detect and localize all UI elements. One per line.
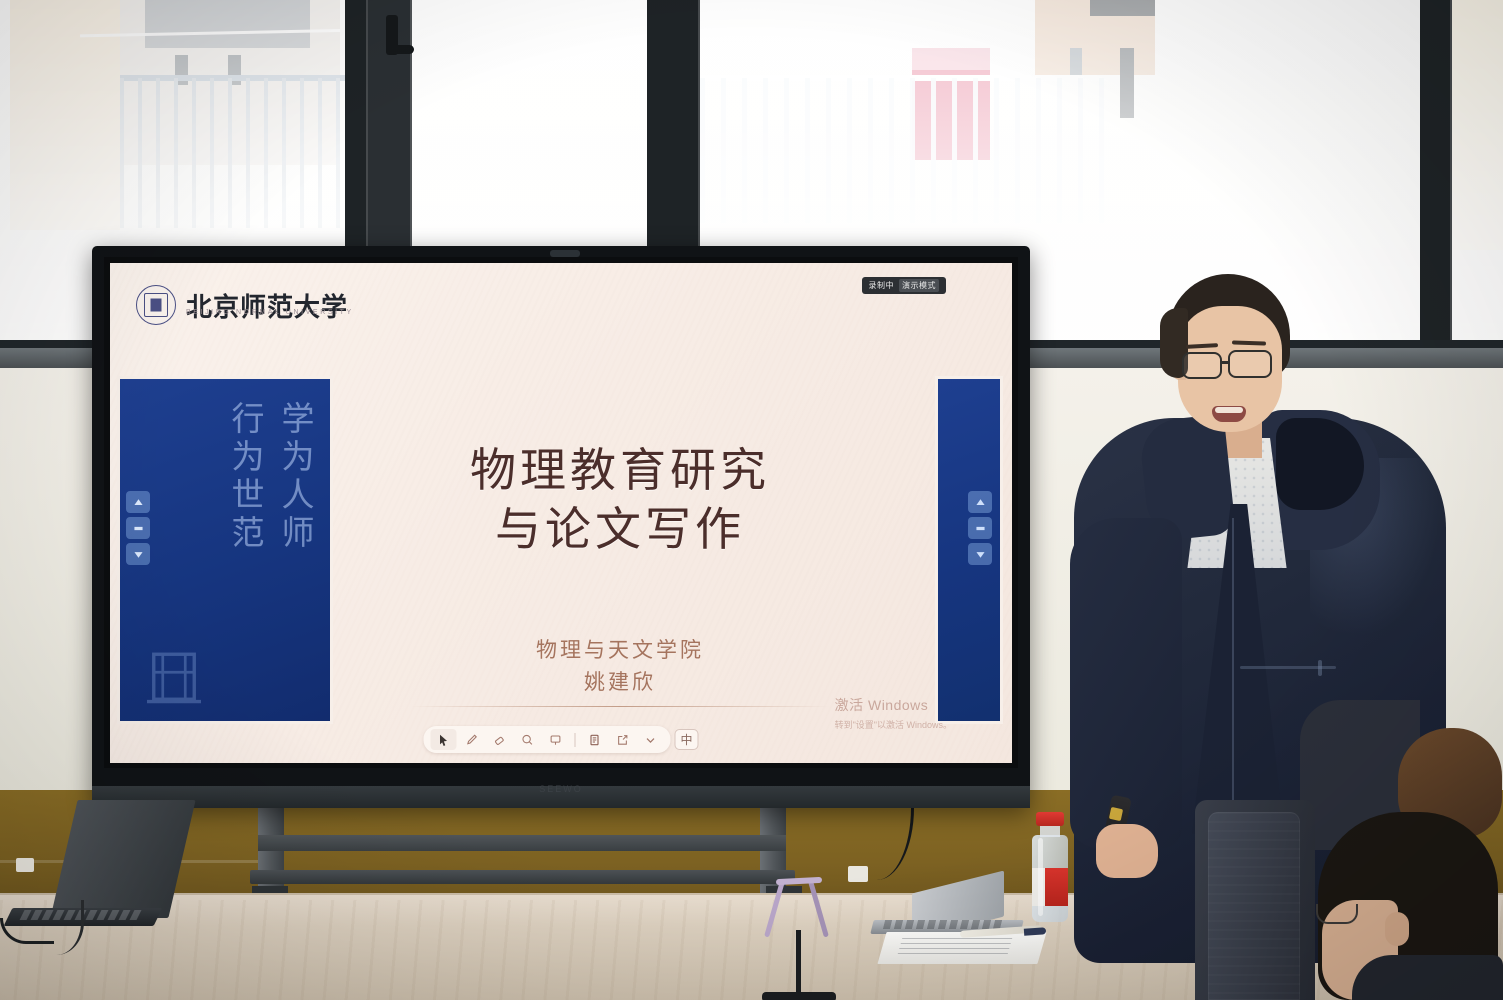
eyeglasses-lens-right: [1228, 350, 1272, 378]
presenter-hand: [1096, 824, 1158, 878]
slide-right-mini-toolbar[interactable]: [968, 491, 992, 565]
stand-top: [776, 877, 822, 885]
slide-right-blue-panel: [938, 379, 1000, 721]
display-camera-icon: [550, 250, 580, 257]
spotlight-tool-button[interactable]: [543, 729, 569, 750]
microphone-stem: [796, 930, 801, 1000]
presentation-toolbar[interactable]: 中: [424, 726, 699, 753]
eraser-tool-button[interactable]: [487, 729, 513, 750]
tablet-stand: [772, 880, 832, 938]
magnifier-tool-button[interactable]: [515, 729, 541, 750]
microphone-base: [762, 992, 836, 1000]
slide-subtitle-line2: 姚建欣: [410, 667, 830, 699]
menu-button[interactable]: [126, 517, 150, 539]
bottle-highlight: [1038, 838, 1043, 916]
chair-backrest: [1208, 812, 1300, 1000]
slide-title: 物理教育研究 与论文写作: [410, 441, 830, 559]
interactive-flat-panel[interactable]: SEEWO 北京师范大学 BEIJING NORMAL UNIVERSITY 学…: [92, 246, 1030, 808]
slide-title-line1: 物理教育研究: [470, 443, 770, 497]
slide-left-mini-toolbar[interactable]: [126, 491, 150, 565]
university-logo: 北京师范大学: [136, 285, 348, 325]
display-screen[interactable]: 北京师范大学 BEIJING NORMAL UNIVERSITY 学为人师 行为…: [110, 263, 1012, 763]
notes-icon: [588, 733, 602, 747]
chevron-down-icon: [644, 733, 658, 747]
presentation-tool-group[interactable]: [424, 726, 671, 753]
university-name-en: BEIJING NORMAL UNIVERSITY: [186, 309, 354, 316]
recording-badge-chip: 演示模式: [899, 279, 939, 292]
slide-title-line2: 与论文写作: [410, 500, 830, 559]
notes-button[interactable]: [582, 729, 608, 750]
slide-subtitle: 物理与天文学院 姚建欣: [410, 635, 830, 698]
motto-column-2: 行为世范: [224, 401, 266, 553]
paper-text-lines: [898, 938, 1013, 954]
cursor-icon: [437, 733, 451, 747]
stand-lower-shelf: [250, 870, 795, 884]
exit-share-icon: [616, 733, 630, 747]
page-up-button[interactable]: [968, 491, 992, 513]
powerpoint-slide[interactable]: 北京师范大学 BEIJING NORMAL UNIVERSITY 学为人师 行为…: [110, 263, 1012, 763]
toolbar-separator: [575, 733, 576, 747]
exit-button[interactable]: [610, 729, 636, 750]
slide-divider-rule: [410, 706, 830, 707]
jacket-pocket-tab: [1318, 660, 1322, 676]
jacket-zipper: [1232, 518, 1234, 838]
magnifier-icon: [521, 733, 535, 747]
seal-stamp-icon: [138, 643, 210, 715]
pointer-tool-button[interactable]: [431, 729, 457, 750]
motto-column-1: 学为人师: [274, 401, 316, 553]
ime-indicator[interactable]: 中: [675, 729, 699, 750]
eraser-icon: [493, 733, 507, 747]
spotlight-icon: [549, 733, 563, 747]
eyeglasses-bridge: [1220, 361, 1230, 364]
attendee-body: [1352, 955, 1503, 1000]
eyeglasses-lens-left: [1182, 352, 1222, 379]
stand-crossbar: [258, 835, 786, 851]
attendee-eyeglasses: [1316, 904, 1358, 924]
bottle-neck: [1040, 825, 1060, 837]
page-up-button[interactable]: [126, 491, 150, 513]
display-brand-label: SEEWO: [539, 784, 583, 794]
chair-mesh-texture: [1208, 812, 1300, 1000]
window-handle-arm: [392, 45, 414, 54]
slide-left-blue-panel: 学为人师 行为世范: [120, 379, 330, 721]
page-down-button[interactable]: [968, 543, 992, 565]
university-name-cn: 北京师范大学: [186, 287, 348, 324]
more-button[interactable]: [638, 729, 664, 750]
menu-button[interactable]: [968, 517, 992, 539]
laptop-keyboard[interactable]: [883, 920, 1003, 929]
page-down-button[interactable]: [126, 543, 150, 565]
lecture-room-photo: SEEWO 北京师范大学 BEIJING NORMAL UNIVERSITY 学…: [0, 0, 1503, 1000]
wall-outlet: [16, 858, 34, 872]
stand-leg: [808, 880, 829, 937]
pen-tool-button[interactable]: [459, 729, 485, 750]
clicker-button[interactable]: [1109, 807, 1123, 821]
attendee-ear: [1385, 912, 1409, 946]
pen-icon: [465, 733, 479, 747]
slide-subtitle-line1: 物理与天文学院: [410, 635, 830, 667]
recording-badge-text: 录制中: [869, 280, 895, 291]
recording-status-badge[interactable]: 录制中 演示模式: [862, 277, 947, 294]
university-seal-icon: [136, 285, 176, 325]
presenter-teeth: [1215, 407, 1243, 413]
